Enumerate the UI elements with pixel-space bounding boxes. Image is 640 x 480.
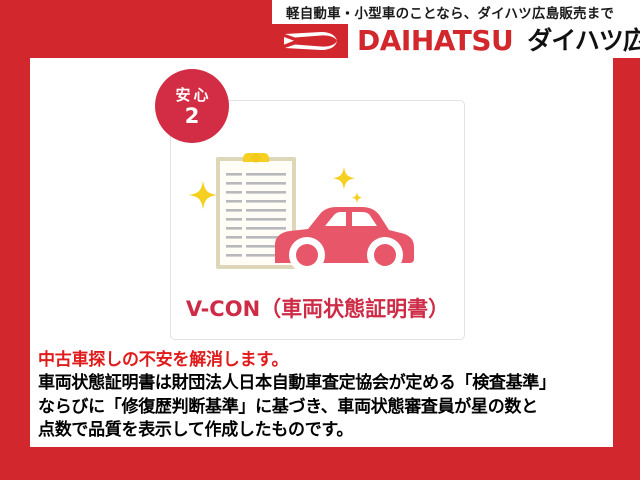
header-left-red-gutter (0, 0, 272, 58)
description-block: 中古車探しの不安を解消します。 車両状態証明書は財団法人日本自動車査定協会が定め… (38, 349, 613, 443)
vcon-illustration (180, 133, 460, 278)
sparkle-star-icon (189, 181, 217, 209)
anshin-badge-label: 安心 (172, 86, 211, 104)
dealer-name: ダイハツ広島販売 (527, 24, 640, 58)
vcon-caption: V-CON（車両状態証明書） (170, 293, 465, 323)
sparkle-star-icon (333, 167, 355, 189)
sparkle-star-icon (352, 192, 362, 203)
anshin-badge-number: 2 (185, 105, 200, 127)
anshin-badge: 安心 2 (155, 69, 229, 143)
header-bar: 軽自動車・小型車のことなら、ダイハツ広島販売まで DAIHATSU ダイハツ広島… (0, 0, 640, 58)
description-line: ならびに「修復歴判断基準」に基づき、車両状態審査員が星の数と (38, 396, 613, 420)
description-line: 点数で品質を表示して作成したものです。 (38, 419, 613, 443)
brand-logo-row: DAIHATSU ダイハツ広島販売 (272, 24, 640, 58)
poster-root: 軽自動車・小型車のことなら、ダイハツ広島販売まで DAIHATSU ダイハツ広島… (0, 0, 640, 480)
description-headline: 中古車探しの不安を解消します。 (38, 349, 613, 372)
brand-wordmark: DAIHATSU (357, 24, 513, 58)
brand-logo-mark (272, 24, 348, 58)
content-panel: 安心 2 (30, 58, 613, 447)
description-line: 車両状態証明書は財団法人日本自動車査定協会が定める「検査基準」 (38, 372, 613, 396)
daihatsu-d-emblem-icon (281, 28, 339, 54)
header-tagline: 軽自動車・小型車のことなら、ダイハツ広島販売まで (286, 4, 614, 24)
